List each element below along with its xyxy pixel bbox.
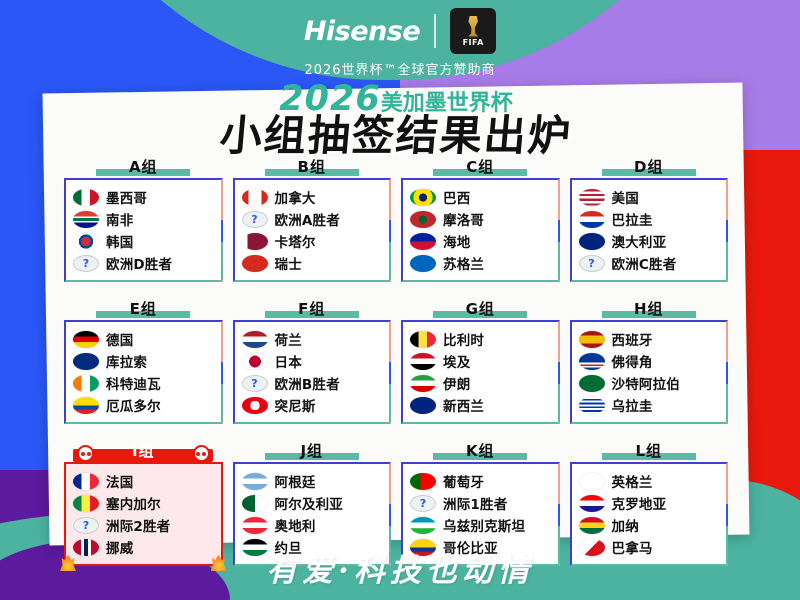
flag-icon-canada (242, 189, 268, 206)
poster-canvas: Hisense FIFA 2026世界杯™全球官方赞助商 2026美加墨世界杯 … (0, 0, 800, 600)
team-row: 韩国 (73, 230, 215, 252)
group-label: E组 (64, 298, 223, 319)
team-row: 比利时 (410, 328, 552, 350)
group-team-list: 西班牙佛得角沙特阿拉伯乌拉圭 (570, 320, 729, 424)
team-name: 洲际1胜者 (443, 493, 507, 513)
team-name: 新西兰 (443, 395, 484, 415)
team-name: 巴西 (443, 187, 470, 207)
flag-icon-qatar (242, 233, 268, 250)
team-name: 欧洲D胜者 (106, 253, 172, 273)
team-name: 卡塔尔 (275, 231, 316, 251)
group-card-F组: F组荷兰日本?欧洲B胜者突尼斯 (233, 298, 392, 424)
team-row: 加纳 (579, 514, 721, 536)
flag-icon-uzbekistan (410, 517, 436, 534)
group-label: H组 (570, 298, 729, 319)
group-label: B组 (233, 156, 392, 177)
fifa-label: FIFA (463, 38, 484, 47)
team-name: 伊朗 (443, 373, 470, 393)
flag-icon-curacao (73, 353, 99, 370)
team-name: 科特迪瓦 (106, 373, 161, 393)
group-label: A组 (64, 156, 223, 177)
team-name: 海地 (443, 231, 470, 251)
team-row: 阿根廷 (242, 470, 384, 492)
group-card-B组: B组加拿大?欧洲A胜者卡塔尔瑞士 (233, 156, 392, 282)
team-name: 乌兹别克斯坦 (443, 515, 525, 535)
flag-icon-cape-verde (579, 353, 605, 370)
flag-icon-south-africa (73, 211, 99, 228)
team-name: 加拿大 (275, 187, 316, 207)
team-row: ?洲际1胜者 (410, 492, 552, 514)
group-label: G组 (401, 298, 560, 319)
team-row: 巴拉圭 (579, 208, 721, 230)
team-name: 佛得角 (612, 351, 653, 371)
team-name: 韩国 (106, 231, 133, 251)
team-row: 克罗地亚 (579, 492, 721, 514)
unknown-team-icon: ? (73, 517, 99, 534)
unknown-team-icon: ? (73, 255, 99, 272)
team-row: 南非 (73, 208, 215, 230)
team-row: 沙特阿拉伯 (579, 372, 721, 394)
team-row: 新西兰 (410, 394, 552, 416)
team-name: 塞内加尔 (106, 493, 161, 513)
team-row: 突尼斯 (242, 394, 384, 416)
flag-icon-uruguay (579, 397, 605, 414)
group-team-list: 比利时埃及伊朗新西兰 (401, 320, 560, 424)
team-name: 欧洲A胜者 (275, 209, 340, 229)
team-row: 奥地利 (242, 514, 384, 536)
team-row: 埃及 (410, 350, 552, 372)
flag-icon-morocco (410, 211, 436, 228)
team-name: 葡萄牙 (443, 471, 484, 491)
team-row: 荷兰 (242, 328, 384, 350)
group-label-row: F组 (233, 298, 392, 320)
group-label-row: D组 (570, 156, 729, 178)
team-row: 瑞士 (242, 252, 384, 274)
flag-icon-ghana (579, 517, 605, 534)
group-team-list: 墨西哥南非韩国?欧洲D胜者 (64, 178, 223, 282)
team-row: ?洲际2胜者 (73, 514, 215, 536)
team-row: 海地 (410, 230, 552, 252)
team-name: 加纳 (612, 515, 639, 535)
flag-icon-haiti (410, 233, 436, 250)
poster-header: Hisense FIFA 2026世界杯™全球官方赞助商 (0, 8, 800, 78)
team-row: 日本 (242, 350, 384, 372)
group-label-row: L组 (570, 440, 729, 462)
group-card-H组: H组西班牙佛得角沙特阿拉伯乌拉圭 (570, 298, 729, 424)
flag-icon-japan (242, 353, 268, 370)
group-card-E组: E组德国库拉索科特迪瓦厄瓜多尔 (64, 298, 223, 424)
group-team-list: 加拿大?欧洲A胜者卡塔尔瑞士 (233, 178, 392, 282)
flag-icon-netherlands (242, 331, 268, 348)
footer-slogan: 有爱·科技也动情 (0, 545, 800, 590)
unknown-team-icon: ? (242, 211, 268, 228)
team-name: 洲际2胜者 (106, 515, 170, 535)
team-row: ?欧洲A胜者 (242, 208, 384, 230)
flag-icon-egypt (410, 353, 436, 370)
group-label-row: I组 (64, 440, 223, 462)
group-label: K组 (401, 440, 560, 461)
flag-icon-switzerland (242, 255, 268, 272)
flag-icon-portugal (410, 473, 436, 490)
team-name: 乌拉圭 (612, 395, 653, 415)
team-name: 美国 (612, 187, 639, 207)
unknown-team-icon: ? (242, 375, 268, 392)
flag-icon-usa (579, 189, 605, 206)
flag-icon-paraguay (579, 211, 605, 228)
flag-icon-england (579, 473, 605, 490)
team-row: ?欧洲B胜者 (242, 372, 384, 394)
team-row: 英格兰 (579, 470, 721, 492)
group-label-row: B组 (233, 156, 392, 178)
group-team-list: 巴西摩洛哥海地苏格兰 (401, 178, 560, 282)
flag-icon-argentina (242, 473, 268, 490)
flag-icon-croatia (579, 495, 605, 512)
team-name: 欧洲B胜者 (275, 373, 340, 393)
team-row: 塞内加尔 (73, 492, 215, 514)
team-row: 澳大利亚 (579, 230, 721, 252)
flag-icon-tunisia (242, 397, 268, 414)
group-card-G组: G组比利时埃及伊朗新西兰 (401, 298, 560, 424)
team-name: 英格兰 (612, 471, 653, 491)
team-name: 阿尔及利亚 (275, 493, 344, 513)
flag-icon-austria (242, 517, 268, 534)
team-row: 加拿大 (242, 186, 384, 208)
team-row: 苏格兰 (410, 252, 552, 274)
group-label: F组 (233, 298, 392, 319)
team-name: 荷兰 (275, 329, 302, 349)
team-row: 阿尔及利亚 (242, 492, 384, 514)
team-name: 厄瓜多尔 (106, 395, 161, 415)
content-sheet: 2026美加墨世界杯 小组抽签结果出炉 A组墨西哥南非韩国?欧洲D胜者B组加拿大… (42, 83, 749, 546)
unknown-team-icon: ? (410, 495, 436, 512)
brand-row: Hisense FIFA (0, 8, 800, 54)
flag-icon-belgium (410, 331, 436, 348)
fifa-trophy-icon: FIFA (450, 8, 496, 54)
team-name: 瑞士 (275, 253, 302, 273)
team-name: 澳大利亚 (612, 231, 667, 251)
group-label-row: K组 (401, 440, 560, 462)
group-label: J组 (233, 440, 392, 461)
panda-face-icon (77, 445, 94, 462)
flag-icon-mexico (73, 189, 99, 206)
group-label: C组 (401, 156, 560, 177)
group-team-list: 荷兰日本?欧洲B胜者突尼斯 (233, 320, 392, 424)
team-name: 欧洲C胜者 (612, 253, 677, 273)
team-name: 墨西哥 (106, 187, 147, 207)
group-card-D组: D组美国巴拉圭澳大利亚?欧洲C胜者 (570, 156, 729, 282)
flag-icon-new-zealand (410, 397, 436, 414)
title-headline: 小组抽签结果出炉 (44, 114, 748, 158)
trophy-cup-shape (465, 16, 482, 37)
team-row: 乌拉圭 (579, 394, 721, 416)
group-team-list: 德国库拉索科特迪瓦厄瓜多尔 (64, 320, 223, 424)
group-team-list: 美国巴拉圭澳大利亚?欧洲C胜者 (570, 178, 729, 282)
panda-face-icon (193, 445, 210, 462)
team-row: 墨西哥 (73, 186, 215, 208)
groups-grid: A组墨西哥南非韩国?欧洲D胜者B组加拿大?欧洲A胜者卡塔尔瑞士C组巴西摩洛哥海地… (64, 156, 728, 566)
team-name: 德国 (106, 329, 133, 349)
team-row: 法国 (73, 470, 215, 492)
team-row: 伊朗 (410, 372, 552, 394)
team-name: 库拉索 (106, 351, 147, 371)
group-label-row: A组 (64, 156, 223, 178)
team-row: 厄瓜多尔 (73, 394, 215, 416)
flag-icon-france (73, 473, 99, 490)
flag-icon-saudi-arabia (579, 375, 605, 392)
team-name: 西班牙 (612, 329, 653, 349)
team-name: 苏格兰 (443, 253, 484, 273)
group-label-row: J组 (233, 440, 392, 462)
team-row: ?欧洲D胜者 (73, 252, 215, 274)
title-block: 2026美加墨世界杯 小组抽签结果出炉 (46, 82, 746, 158)
team-row: 乌兹别克斯坦 (410, 514, 552, 536)
group-card-A组: A组墨西哥南非韩国?欧洲D胜者 (64, 156, 223, 282)
team-name: 巴拉圭 (612, 209, 653, 229)
team-row: 科特迪瓦 (73, 372, 215, 394)
flag-icon-scotland (410, 255, 436, 272)
flag-icon-spain (579, 331, 605, 348)
team-row: 西班牙 (579, 328, 721, 350)
team-name: 南非 (106, 209, 133, 229)
team-name: 克罗地亚 (612, 493, 667, 513)
team-name: 摩洛哥 (443, 209, 484, 229)
group-label-row: C组 (401, 156, 560, 178)
brand-divider (434, 14, 436, 48)
flag-icon-brazil (410, 189, 436, 206)
team-row: 摩洛哥 (410, 208, 552, 230)
team-name: 埃及 (443, 351, 470, 371)
group-label: L组 (570, 440, 729, 461)
flag-icon-senegal (73, 495, 99, 512)
flag-icon-germany (73, 331, 99, 348)
team-name: 奥地利 (275, 515, 316, 535)
team-row: 葡萄牙 (410, 470, 552, 492)
group-label-row: H组 (570, 298, 729, 320)
team-name: 阿根廷 (275, 471, 316, 491)
hisense-logo: Hisense (304, 16, 420, 47)
flag-icon-south-korea (73, 233, 99, 250)
team-name: 日本 (275, 351, 302, 371)
flag-icon-ecuador (73, 397, 99, 414)
team-row: 巴西 (410, 186, 552, 208)
sponsor-text: 2026世界杯™全球官方赞助商 (0, 59, 800, 78)
team-row: 美国 (579, 186, 721, 208)
group-card-C组: C组巴西摩洛哥海地苏格兰 (401, 156, 560, 282)
team-row: 佛得角 (579, 350, 721, 372)
flag-icon-ivory-coast (73, 375, 99, 392)
team-row: ?欧洲C胜者 (579, 252, 721, 274)
team-name: 法国 (106, 471, 133, 491)
unknown-team-icon: ? (579, 255, 605, 272)
group-label: D组 (570, 156, 729, 177)
flag-icon-australia (579, 233, 605, 250)
team-row: 库拉索 (73, 350, 215, 372)
flag-icon-algeria (242, 495, 268, 512)
team-name: 比利时 (443, 329, 484, 349)
flag-icon-iran (410, 375, 436, 392)
team-row: 卡塔尔 (242, 230, 384, 252)
team-name: 突尼斯 (275, 395, 316, 415)
team-row: 德国 (73, 328, 215, 350)
group-label-row: G组 (401, 298, 560, 320)
group-label-row: E组 (64, 298, 223, 320)
team-name: 沙特阿拉伯 (612, 373, 681, 393)
